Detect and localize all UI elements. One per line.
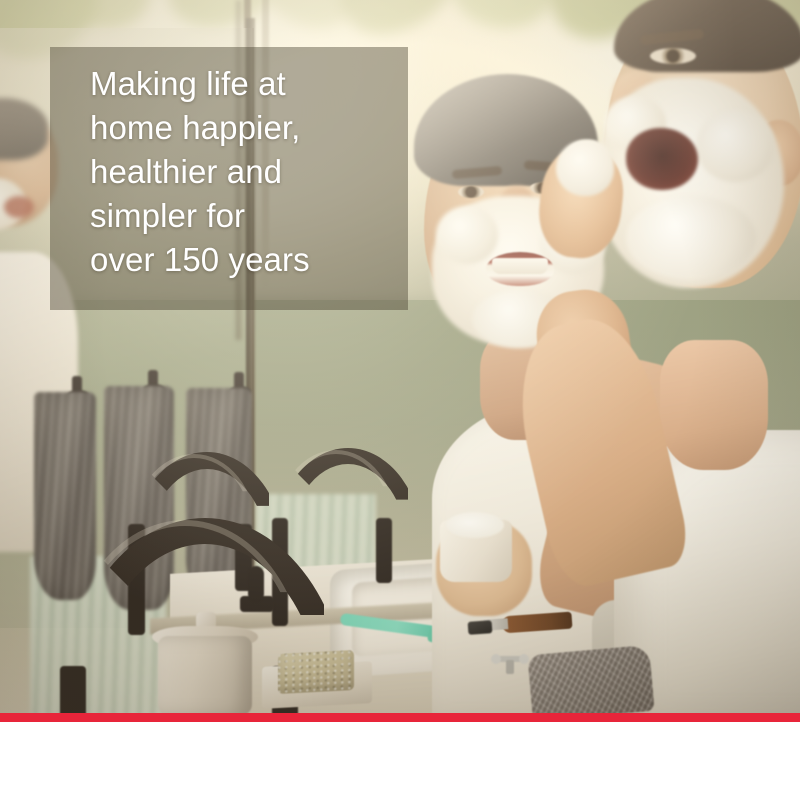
rear-faucet-spout	[376, 518, 392, 583]
soap-bar	[278, 650, 354, 694]
mirror-reflection-mouth	[4, 196, 34, 218]
ceramic-jar	[158, 636, 252, 714]
red-accent-bar	[0, 713, 800, 722]
advertisement-canvas: Making life at home happier, healthier a…	[0, 0, 800, 800]
towel-fold-texture	[34, 392, 96, 600]
boy-foam-on-fingers	[556, 140, 614, 196]
razor-head	[468, 620, 493, 635]
boy-neck	[660, 340, 768, 470]
dad-eye-left	[458, 186, 484, 198]
dad-teeth	[492, 258, 548, 274]
shaving-cream-cup-foam	[446, 512, 504, 538]
hanging-towel-1	[34, 392, 96, 600]
dad-foam-lobe-1	[436, 206, 498, 264]
headline-text: Making life at home happier, healthier a…	[90, 62, 420, 282]
sink-faucet-lever-icon	[490, 650, 530, 676]
boy-foam-lobe-3	[626, 196, 756, 280]
boy-mouth-open	[626, 128, 698, 190]
footer-bar: American Standard	[0, 722, 800, 800]
main-faucet-riser	[60, 666, 86, 714]
faucet-valve-handle	[248, 566, 264, 602]
boy-eye	[650, 48, 696, 64]
knit-hand-towel	[527, 645, 654, 714]
hero-photo: Making life at home happier, healthier a…	[0, 0, 800, 714]
boy-foam-lobe-2	[696, 110, 774, 182]
